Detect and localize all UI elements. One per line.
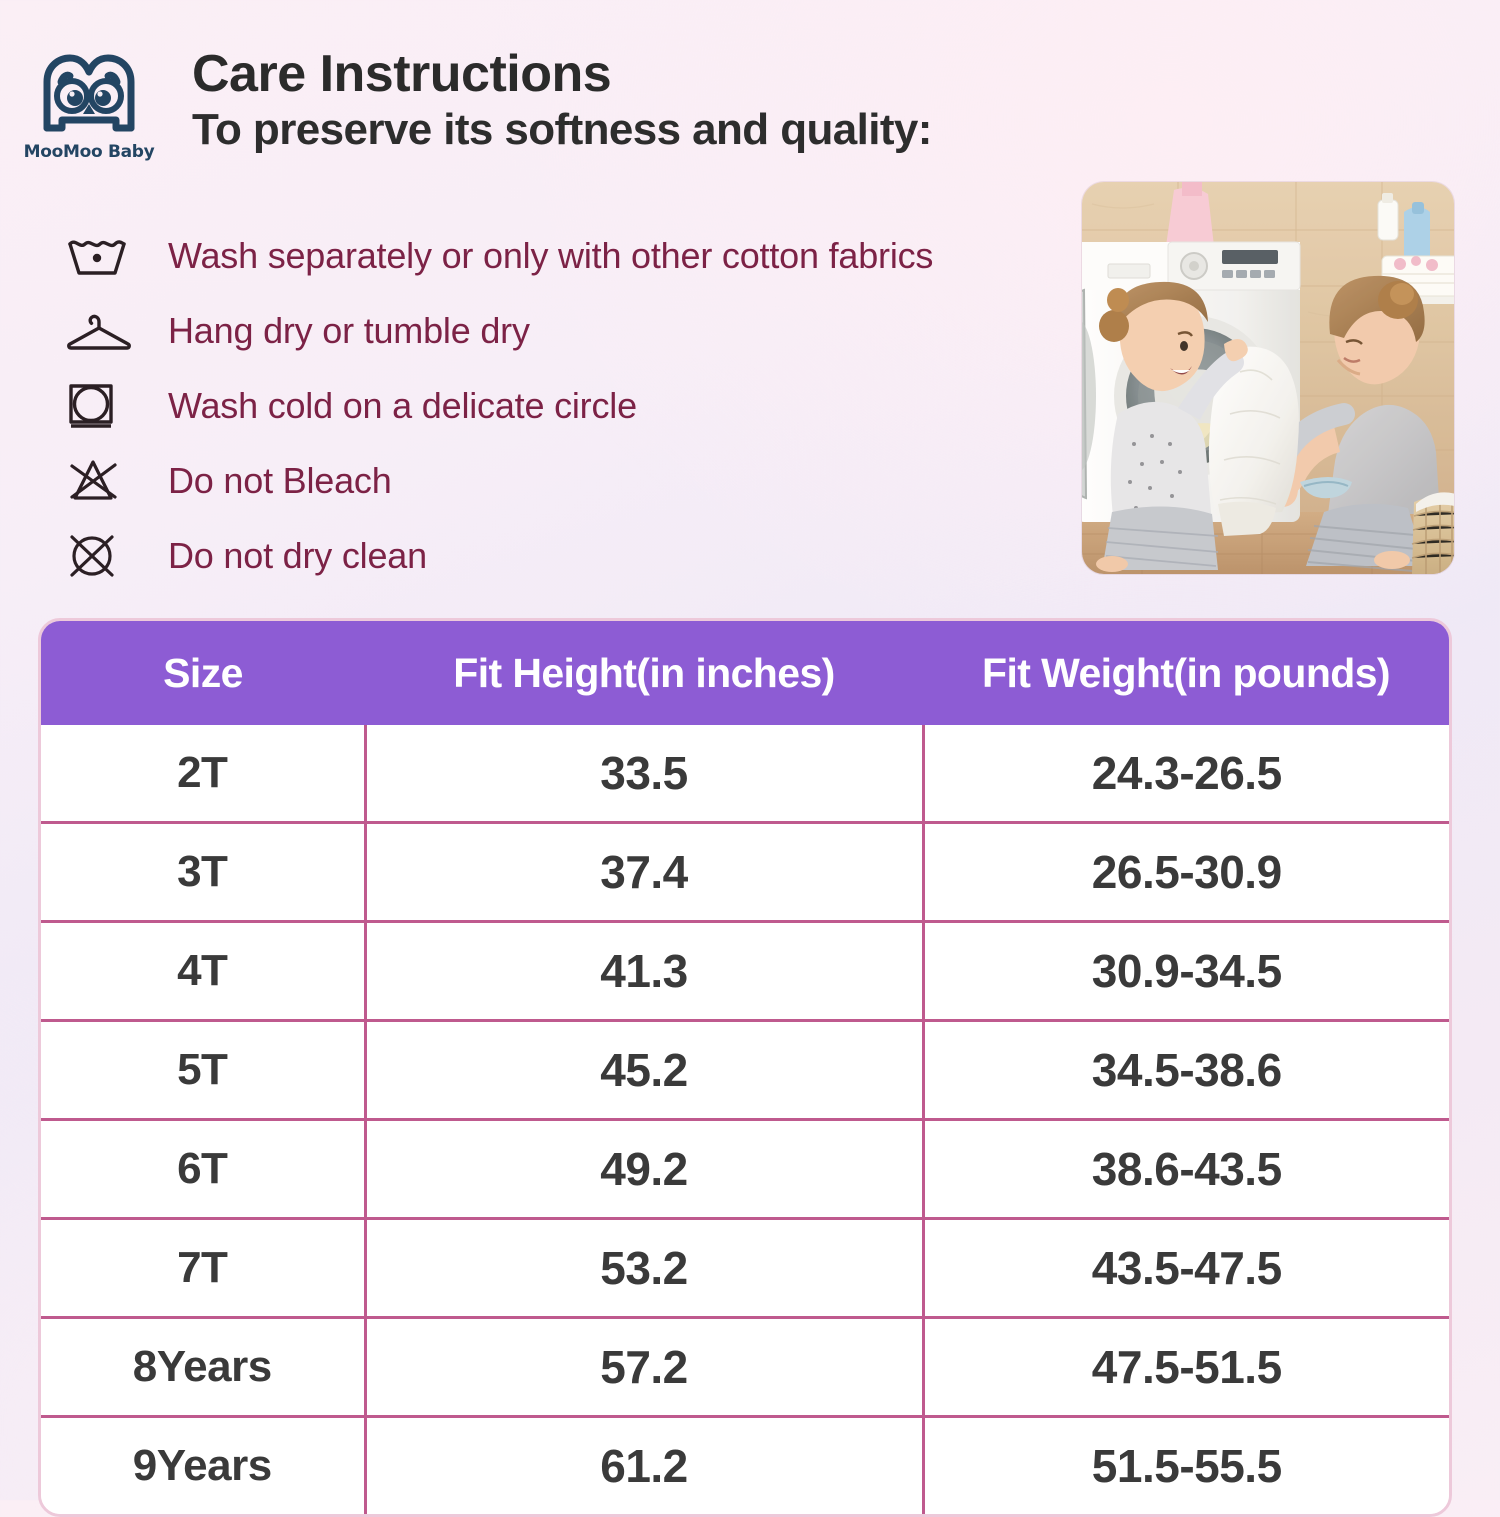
cell-height: 41.3 (365, 922, 923, 1021)
cell-weight: 38.6-43.5 (923, 1120, 1449, 1219)
care-instruction-item: Do not Bleach (66, 443, 1076, 518)
brand-name: MooMoo Baby (24, 142, 155, 162)
owl-icon (39, 52, 139, 140)
table-row: 7T 53.2 43.5-47.5 (41, 1219, 1449, 1318)
cell-weight: 51.5-55.5 (923, 1417, 1449, 1515)
page-subtitle: To preserve its softness and quality: (192, 106, 932, 154)
column-header-height: Fit Height(in inches) (365, 621, 923, 725)
care-instructions-page: MooMoo Baby Care Instructions To preserv… (0, 0, 1500, 1500)
do-not-dry-clean-icon (66, 529, 132, 583)
care-instruction-item: Hang dry or tumble dry (66, 293, 1076, 368)
care-instruction-item: Wash cold on a delicate circle (66, 368, 1076, 443)
title-block: Care Instructions To preserve its softne… (192, 46, 932, 154)
care-instruction-text: Wash separately or only with other cotto… (168, 235, 933, 277)
cell-height: 53.2 (365, 1219, 923, 1318)
column-header-weight: Fit Weight(in pounds) (923, 621, 1449, 725)
table-row: 6T 49.2 38.6-43.5 (41, 1120, 1449, 1219)
cell-size: 7T (41, 1219, 365, 1318)
table-row: 9Years 61.2 51.5-55.5 (41, 1417, 1449, 1515)
wash-tub-icon (66, 229, 132, 283)
table-row: 3T 37.4 26.5-30.9 (41, 823, 1449, 922)
care-instruction-item: Wash separately or only with other cotto… (66, 218, 1076, 293)
care-instruction-text: Wash cold on a delicate circle (168, 385, 637, 427)
cell-weight: 34.5-38.6 (923, 1021, 1449, 1120)
cell-height: 49.2 (365, 1120, 923, 1219)
table-row: 8Years 57.2 47.5-51.5 (41, 1318, 1449, 1417)
cell-size: 9Years (41, 1417, 365, 1515)
cell-size: 4T (41, 922, 365, 1021)
table-row: 4T 41.3 30.9-34.5 (41, 922, 1449, 1021)
table-body: 2T 33.5 24.3-26.5 3T 37.4 26.5-30.9 4T 4… (41, 725, 1449, 1514)
cell-size: 3T (41, 823, 365, 922)
care-instruction-item: Do not dry clean (66, 518, 1076, 593)
table-header-row: Size Fit Height(in inches) Fit Weight(in… (41, 621, 1449, 725)
page-title: Care Instructions (192, 48, 932, 102)
brand-logo: MooMoo Baby (28, 46, 150, 162)
cell-weight: 26.5-30.9 (923, 823, 1449, 922)
table-row: 5T 45.2 34.5-38.6 (41, 1021, 1449, 1120)
page-header: MooMoo Baby Care Instructions To preserv… (28, 46, 932, 162)
care-instruction-list: Wash separately or only with other cotto… (66, 218, 1076, 593)
care-instruction-text: Do not dry clean (168, 535, 427, 577)
cell-size: 6T (41, 1120, 365, 1219)
tumble-dry-icon (66, 379, 132, 433)
cell-height: 61.2 (365, 1417, 923, 1515)
cell-height: 37.4 (365, 823, 923, 922)
do-not-bleach-icon (66, 454, 132, 508)
cell-size: 5T (41, 1021, 365, 1120)
cell-height: 45.2 (365, 1021, 923, 1120)
table-row: 2T 33.5 24.3-26.5 (41, 725, 1449, 823)
column-header-size: Size (41, 621, 365, 725)
care-instruction-text: Do not Bleach (168, 460, 392, 502)
cell-height: 33.5 (365, 725, 923, 823)
cell-size: 2T (41, 725, 365, 823)
cell-height: 57.2 (365, 1318, 923, 1417)
cell-weight: 30.9-34.5 (923, 922, 1449, 1021)
size-chart-table: Size Fit Height(in inches) Fit Weight(in… (38, 618, 1452, 1517)
laundry-photo (1082, 182, 1454, 574)
cell-weight: 43.5-47.5 (923, 1219, 1449, 1318)
clothes-hanger-icon (66, 304, 132, 358)
cell-weight: 24.3-26.5 (923, 725, 1449, 823)
cell-size: 8Years (41, 1318, 365, 1417)
cell-weight: 47.5-51.5 (923, 1318, 1449, 1417)
care-instruction-text: Hang dry or tumble dry (168, 310, 530, 352)
